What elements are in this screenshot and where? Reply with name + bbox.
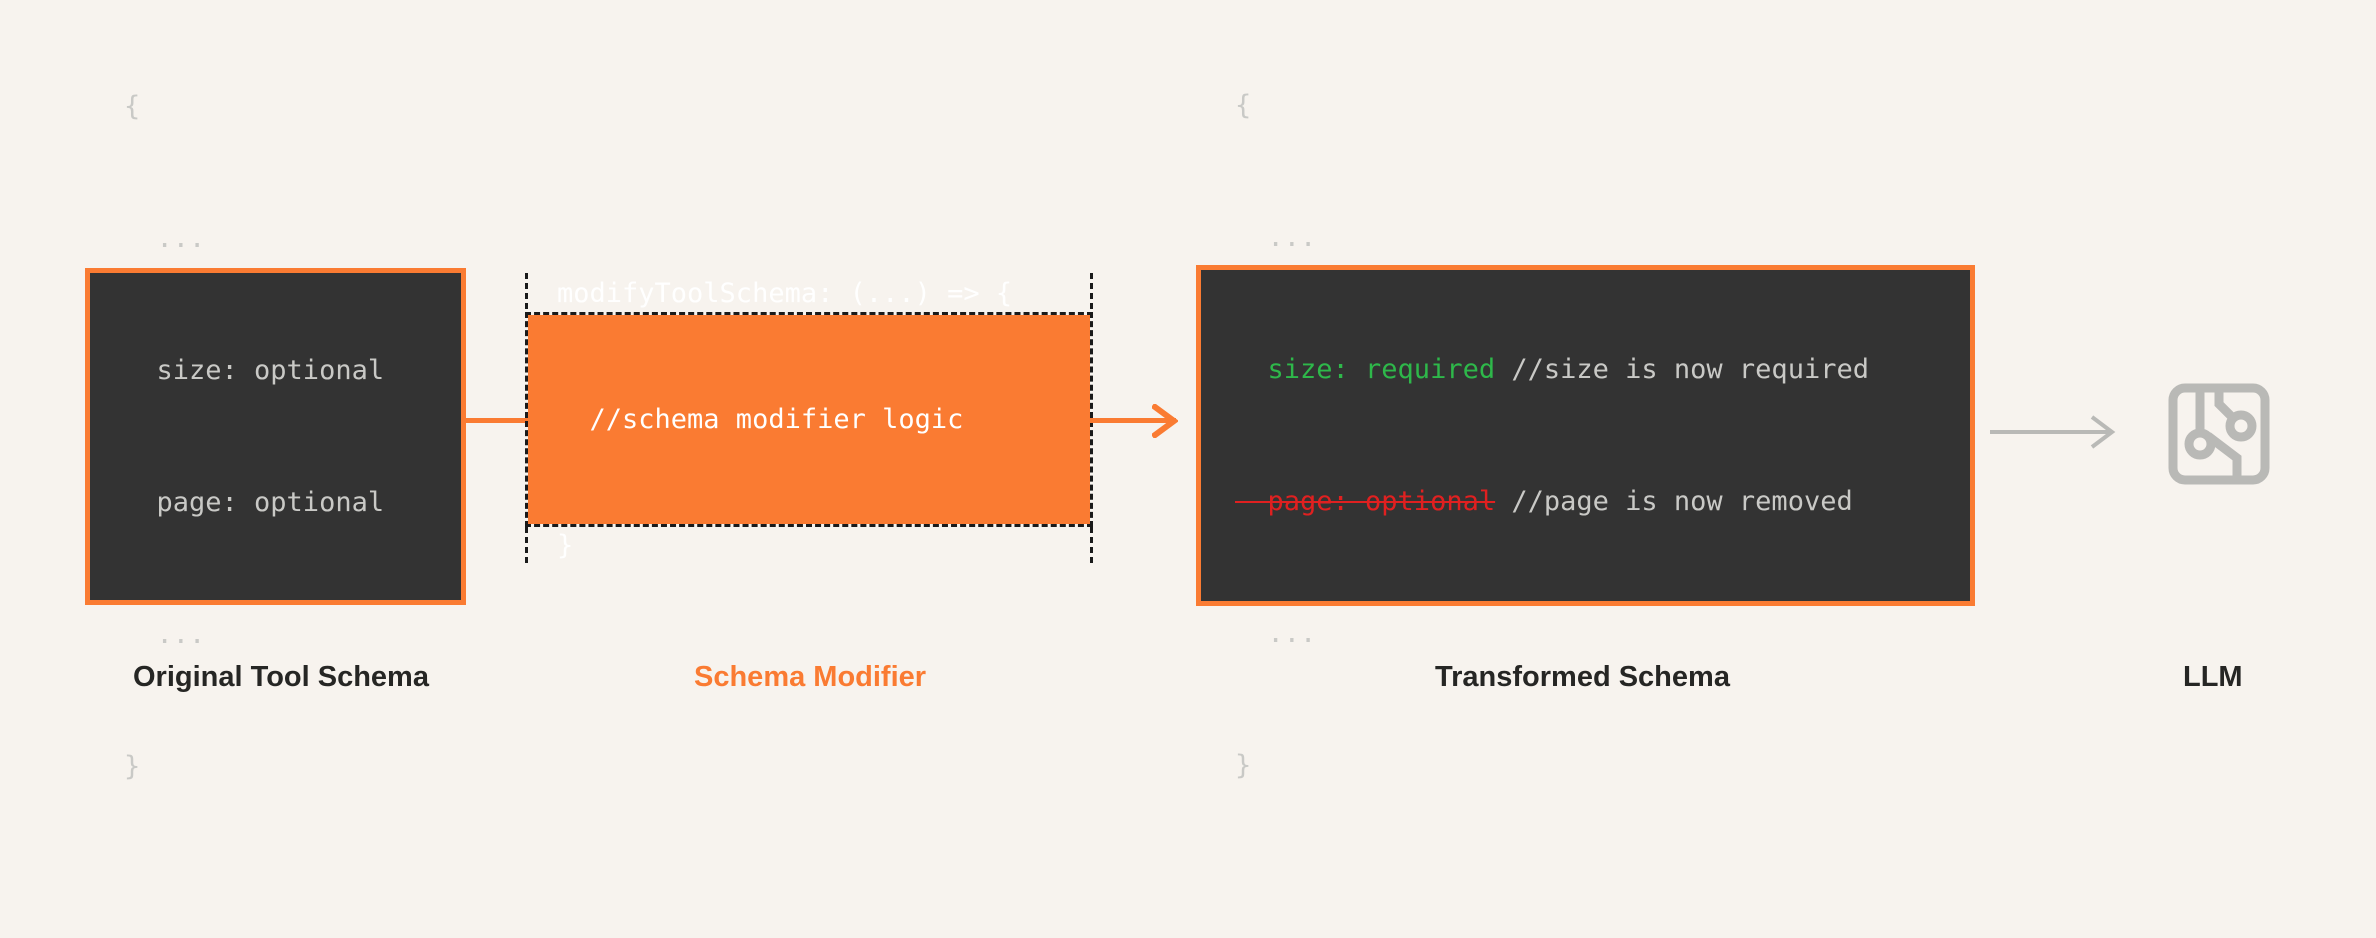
code-line: size: optional: [124, 349, 384, 393]
transformed-schema-code: { ... size: required //size is now requi…: [1201, 0, 1869, 876]
page-optional-token: page: optional: [1235, 486, 1495, 517]
size-comment: //size is now required: [1495, 354, 1869, 385]
label-transformed-schema: Transformed Schema: [1435, 661, 1730, 694]
connector-original-to-modifier: [466, 418, 528, 423]
code-line: ...: [124, 613, 384, 657]
original-schema-code: { ... size: optional page: optional ... …: [90, 0, 384, 877]
code-line: ...: [1235, 216, 1869, 260]
code-line: }: [1235, 744, 1869, 788]
code-line: {: [124, 85, 384, 129]
code-line: ...: [124, 217, 384, 261]
original-tool-schema-card: { ... size: optional page: optional ... …: [85, 268, 466, 605]
page-comment: //page is now removed: [1495, 486, 1853, 517]
code-line-page: page: optional //page is now removed: [1235, 480, 1869, 524]
code-line: ...: [1235, 612, 1869, 656]
arrowhead-orange-icon: [1152, 404, 1178, 438]
code-line-size: size: required //size is now required: [1235, 348, 1869, 392]
schema-modifier-code: modifyToolSchema: (...) => { //schema mo…: [528, 189, 1012, 651]
size-required-token: size: required: [1235, 354, 1495, 385]
schema-modifier-card: modifyToolSchema: (...) => { //schema mo…: [528, 315, 1090, 524]
label-llm: LLM: [2183, 661, 2243, 694]
label-original-tool-schema: Original Tool Schema: [133, 661, 429, 694]
circuit-chip-icon: [2167, 382, 2271, 486]
code-line: }: [124, 745, 384, 789]
label-schema-modifier: Schema Modifier: [694, 661, 926, 694]
transformed-schema-card: { ... size: required //size is now requi…: [1196, 265, 1975, 606]
schema-modifier-group: modifyToolSchema: (...) => { //schema mo…: [525, 312, 1093, 527]
code-line: page: optional: [124, 481, 384, 525]
arrowhead-gray-icon: [2088, 414, 2116, 450]
code-line: {: [1235, 84, 1869, 128]
dashed-guide-bottom-right: [1090, 527, 1093, 563]
diagram-canvas: { ... size: optional page: optional ... …: [0, 0, 2376, 938]
dashed-guide-top-right: [1090, 273, 1093, 309]
code-line: }: [557, 525, 1012, 567]
code-line: modifyToolSchema: (...) => {: [557, 273, 1012, 315]
code-line: //schema modifier logic: [557, 399, 1012, 441]
